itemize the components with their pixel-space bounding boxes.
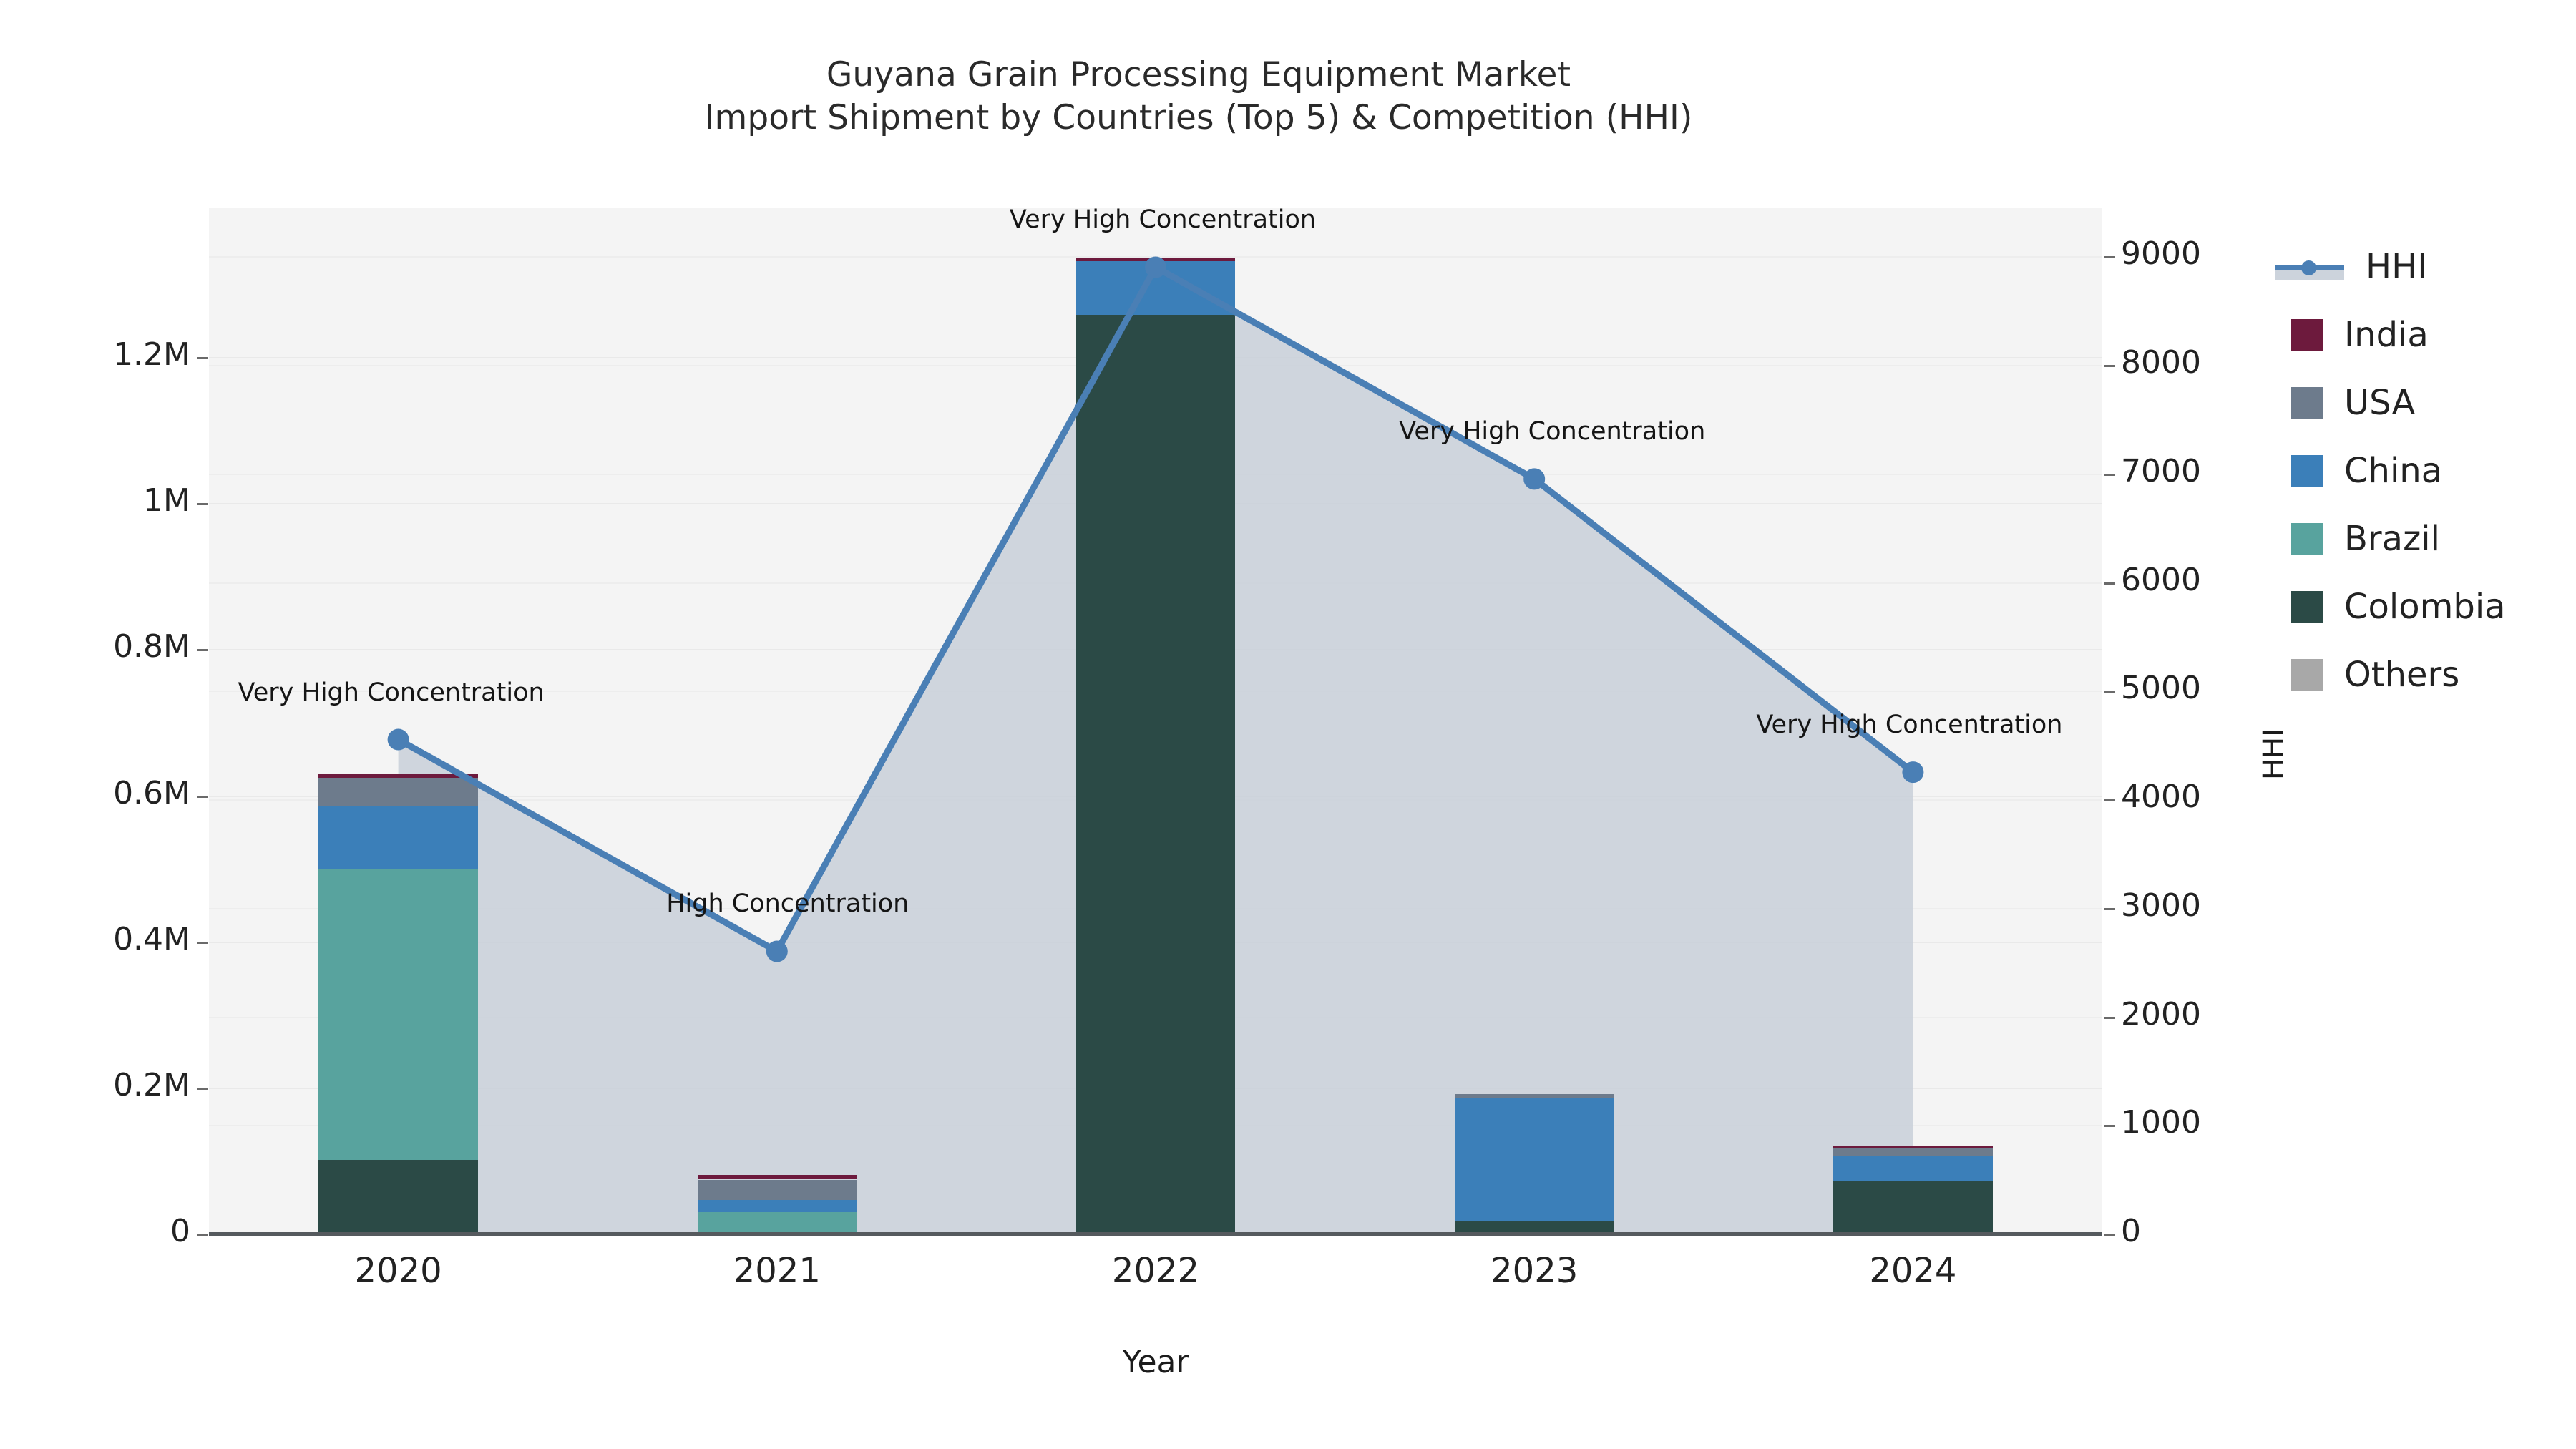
hhi-polyline[interactable]	[399, 267, 1913, 951]
chart-container: Guyana Grain Processing Equipment Market…	[0, 0, 2576, 1449]
y-tick-mark-right	[2104, 1125, 2115, 1127]
annotation-2021: High Concentration	[573, 889, 1002, 918]
hhi-marker-2020[interactable]	[388, 729, 409, 751]
y-tick-right-6000: 6000	[2121, 562, 2201, 598]
y-tick-mark-right	[2104, 1017, 2115, 1019]
chart-title-line-1: Guyana Grain Processing Equipment Market	[0, 54, 2397, 97]
y-tick-mark-left	[197, 649, 208, 651]
y-axis-right-title: HHI	[2258, 728, 2290, 780]
legend-swatch-colombia-icon	[2291, 591, 2323, 623]
legend-label: Others	[2344, 655, 2459, 695]
legend-swatch-india-icon	[2291, 319, 2323, 351]
chart-title-line-2: Import Shipment by Countries (Top 5) & C…	[0, 97, 2397, 140]
y-tick-mark-right	[2104, 691, 2115, 693]
y-tick-left-0.8M: 0.8M	[0, 628, 190, 665]
y-tick-right-1000: 1000	[2121, 1104, 2201, 1141]
y-tick-left-0: 0	[0, 1213, 190, 1249]
y-tick-mark-right	[2104, 474, 2115, 476]
legend-item-brazil[interactable]: Brazil	[2275, 504, 2562, 572]
chart-title: Guyana Grain Processing Equipment Market…	[0, 54, 2397, 139]
y-tick-right-4000: 4000	[2121, 779, 2201, 815]
y-tick-right-5000: 5000	[2121, 670, 2201, 706]
legend-swatch-brazil-icon	[2291, 523, 2323, 555]
y-tick-mark-right	[2104, 908, 2115, 910]
x-tick-2022: 2022	[1048, 1251, 1263, 1291]
legend-swatch-usa-icon	[2291, 387, 2323, 419]
x-tick-2021: 2021	[670, 1251, 884, 1291]
y-tick-left-1M: 1M	[0, 482, 190, 519]
legend-label: China	[2344, 451, 2442, 491]
annotation-2022: Very High Concentration	[948, 205, 1377, 234]
legend-label: HHI	[2366, 247, 2427, 287]
hhi-marker-2023[interactable]	[1523, 468, 1545, 489]
y-tick-mark-right	[2104, 582, 2115, 585]
legend-swatch-others-icon	[2291, 659, 2323, 691]
y-tick-mark-left	[197, 357, 208, 359]
y-tick-mark-left	[197, 1088, 208, 1090]
legend-label: USA	[2344, 383, 2415, 423]
x-axis-spine	[209, 1232, 2102, 1236]
y-tick-mark-left	[197, 503, 208, 505]
y-tick-mark-right	[2104, 799, 2115, 801]
legend-marker-dot-icon	[2301, 260, 2316, 275]
y-tick-mark-left	[197, 1234, 208, 1236]
y-tick-right-2000: 2000	[2121, 996, 2201, 1033]
legend-line-icon	[2275, 251, 2344, 283]
y-tick-mark-right	[2104, 365, 2115, 367]
hhi-marker-2022[interactable]	[1145, 256, 1166, 278]
x-tick-2024: 2024	[1805, 1251, 2020, 1291]
y-tick-right-8000: 8000	[2121, 344, 2201, 381]
hhi-marker-2021[interactable]	[766, 940, 788, 962]
annotation-2023: Very High Concentration	[1337, 417, 1767, 446]
legend-item-india[interactable]: India	[2275, 301, 2562, 369]
y-tick-right-0: 0	[2121, 1213, 2141, 1249]
y-tick-mark-right	[2104, 256, 2115, 258]
y-tick-left-0.4M: 0.4M	[0, 921, 190, 957]
y-tick-right-7000: 7000	[2121, 453, 2201, 489]
y-tick-right-9000: 9000	[2121, 235, 2201, 272]
legend-item-hhi[interactable]: HHI	[2275, 233, 2562, 301]
legend-item-china[interactable]: China	[2275, 436, 2562, 504]
y-tick-right-3000: 3000	[2121, 887, 2201, 924]
legend-item-others[interactable]: Others	[2275, 640, 2562, 708]
legend-item-usa[interactable]: USA	[2275, 369, 2562, 436]
legend-label: Colombia	[2344, 587, 2506, 627]
y-tick-left-1.2M: 1.2M	[0, 336, 190, 373]
legend-item-colombia[interactable]: Colombia	[2275, 572, 2562, 640]
legend-label: India	[2344, 315, 2429, 355]
y-tick-left-0.2M: 0.2M	[0, 1067, 190, 1103]
hhi-marker-2024[interactable]	[1902, 761, 1923, 783]
annotation-2020: Very High Concentration	[177, 678, 606, 707]
legend-swatch-china-icon	[2291, 455, 2323, 487]
annotation-2024: Very High Concentration	[1694, 711, 2124, 739]
y-tick-left-0.6M: 0.6M	[0, 775, 190, 811]
x-tick-2023: 2023	[1427, 1251, 1641, 1291]
legend-label: Brazil	[2344, 519, 2440, 559]
x-tick-2020: 2020	[291, 1251, 506, 1291]
y-tick-mark-right	[2104, 1234, 2115, 1236]
chart-legend: HHIIndiaUSAChinaBrazilColombiaOthers	[2275, 233, 2562, 708]
y-tick-mark-left	[197, 942, 208, 944]
x-axis-title: Year	[209, 1344, 2102, 1380]
y-tick-mark-left	[197, 796, 208, 798]
